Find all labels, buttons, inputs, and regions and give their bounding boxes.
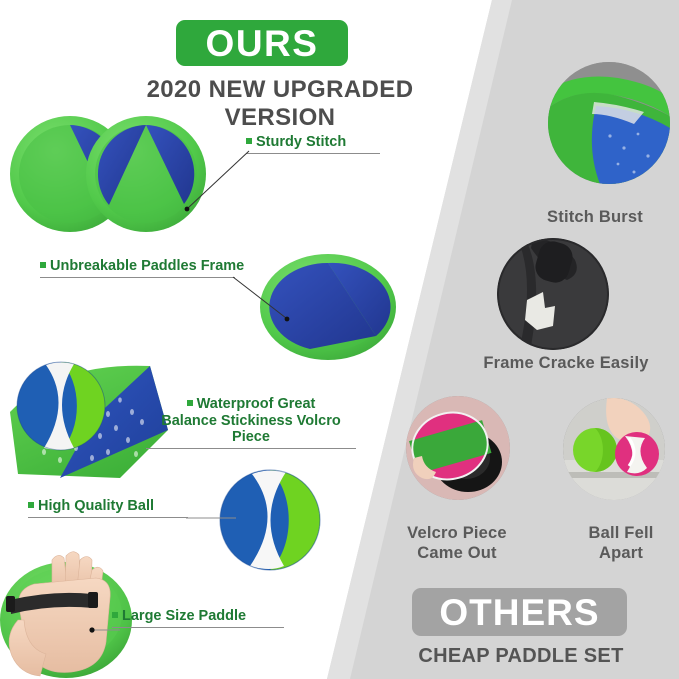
photo-velcro-out bbox=[406, 396, 510, 500]
callout-frame-cracke-easily: Frame Cracke Easily bbox=[452, 354, 679, 374]
callout-rule bbox=[112, 627, 284, 628]
callout-stitch-burst: Stitch Burst bbox=[520, 208, 670, 228]
callout-large-size-paddle: Large Size Paddle bbox=[112, 608, 284, 628]
callout-ball-fell-apart: Ball Fell Apart bbox=[562, 524, 679, 564]
leader-line-high-quality-ball bbox=[186, 514, 238, 522]
callout-unbreakable-frame: Unbreakable Paddles Frame bbox=[40, 258, 235, 278]
callout-velcro-came-out: Velcro Piece Came Out bbox=[382, 524, 532, 564]
ball-image bbox=[218, 468, 322, 572]
bullet-square-icon bbox=[187, 400, 193, 406]
leader-line-sturdy-stitch bbox=[176, 150, 250, 216]
callout-rule bbox=[40, 277, 235, 278]
single-paddle-image bbox=[258, 252, 398, 362]
callout-rule bbox=[146, 448, 356, 449]
callout-high-quality-ball-label: High Quality Ball bbox=[28, 498, 188, 515]
others-badge: OTHERS bbox=[412, 588, 627, 636]
callout-sturdy-stitch: Sturdy Stitch bbox=[246, 134, 380, 154]
callout-unbreakable-frame-label: Unbreakable Paddles Frame bbox=[40, 258, 235, 275]
callout-high-quality-ball: High Quality Ball bbox=[28, 498, 188, 518]
others-subtitle: CHEAP PADDLE SET bbox=[400, 645, 642, 668]
ours-badge: OURS bbox=[176, 20, 348, 66]
callout-rule bbox=[28, 517, 188, 518]
bullet-square-icon bbox=[28, 502, 34, 508]
ours-badge-label: OURS bbox=[206, 25, 319, 62]
photo-ball-apart bbox=[563, 398, 665, 500]
callout-large-size-paddle-label: Large Size Paddle bbox=[112, 608, 284, 625]
photo-stitch-burst bbox=[548, 62, 670, 184]
others-badge-label: OTHERS bbox=[439, 594, 599, 631]
bullet-square-icon bbox=[112, 612, 118, 618]
callout-rule bbox=[246, 153, 380, 154]
leader-line-unbreakable-frame bbox=[232, 276, 294, 324]
ours-subtitle: 2020 NEW UPGRADED VERSION bbox=[100, 76, 460, 132]
bullet-square-icon bbox=[246, 138, 252, 144]
callout-waterproof-velcro-label: Waterproof Great Balance Stickiness Volc… bbox=[146, 396, 356, 446]
callout-sturdy-stitch-label: Sturdy Stitch bbox=[246, 134, 380, 151]
infographic-canvas: OURS 2020 NEW UPGRADED VERSION bbox=[0, 0, 679, 679]
photo-frame-crack bbox=[497, 238, 609, 350]
bullet-square-icon bbox=[40, 262, 46, 268]
callout-waterproof-velcro: Waterproof Great Balance Stickiness Volc… bbox=[146, 396, 356, 449]
